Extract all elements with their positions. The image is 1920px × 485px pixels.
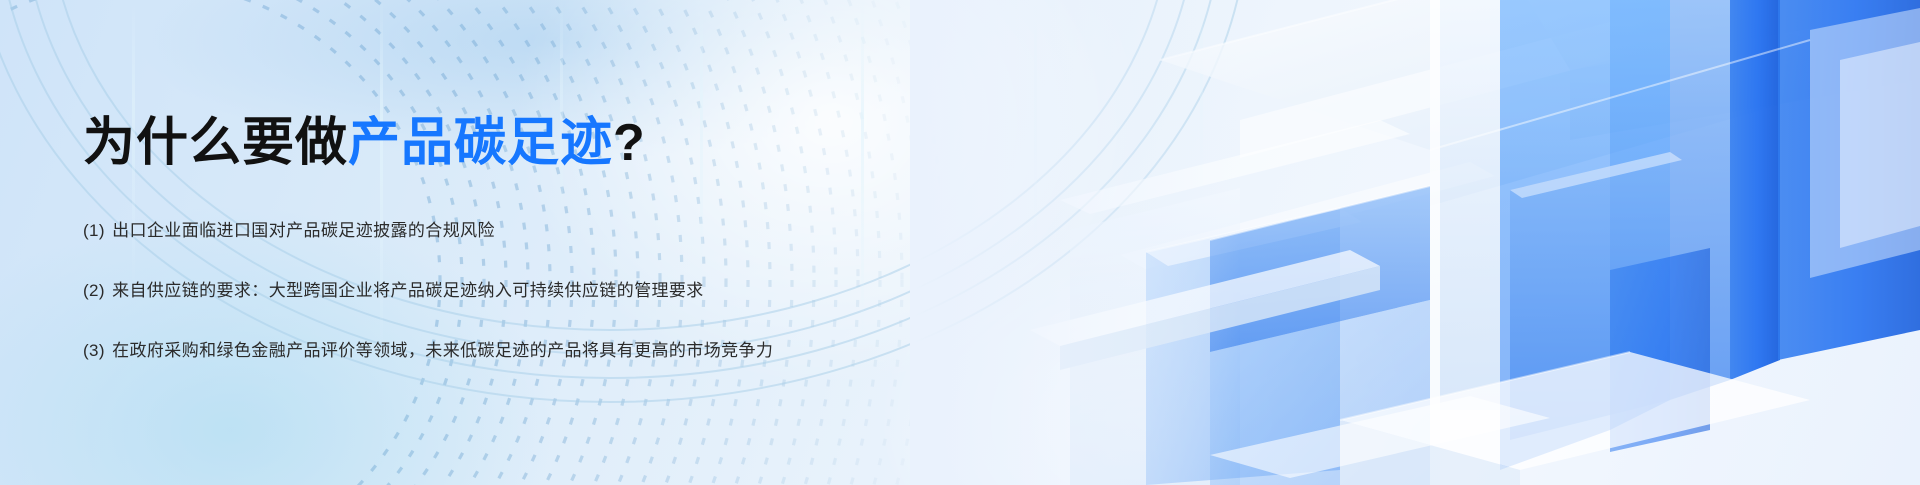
banner-root: 为什么要做产品碳足迹? (1) 出口企业面临进口国对产品碳足迹披露的合规风险 (… <box>0 0 1920 485</box>
headline-accent: 产品碳足迹 <box>348 114 613 172</box>
bullet-text: 在政府采购和绿色金融产品评价等领域，未来低碳足迹的产品将具有更高的市场竞争力 <box>112 341 773 360</box>
bullet-index: (2) <box>83 281 105 300</box>
bullet-index: (1) <box>83 221 105 240</box>
banner-content: 为什么要做产品碳足迹? (1) 出口企业面临进口国对产品碳足迹披露的合规风险 (… <box>83 0 1083 485</box>
list-item: (3) 在政府采购和绿色金融产品评价等领域，未来低碳足迹的产品将具有更高的市场竞… <box>83 337 1063 364</box>
bullet-list: (1) 出口企业面临进口国对产品碳足迹披露的合规风险 (2) 来自供应链的要求：… <box>83 200 1063 365</box>
bullet-text: 来自供应链的要求：大型跨国企业将产品碳足迹纳入可持续供应链的管理要求 <box>112 281 704 300</box>
bullet-index: (3) <box>83 341 105 360</box>
bullet-text: 出口企业面临进口国对产品碳足迹披露的合规风险 <box>112 221 495 240</box>
list-item: (1) 出口企业面临进口国对产品碳足迹披露的合规风险 <box>83 217 1063 244</box>
list-item: (2) 来自供应链的要求：大型跨国企业将产品碳足迹纳入可持续供应链的管理要求 <box>83 277 1063 304</box>
headline-question-mark: ? <box>613 114 646 172</box>
headline-lead: 为什么要做 <box>83 114 348 172</box>
page-title: 为什么要做产品碳足迹? <box>83 117 646 169</box>
